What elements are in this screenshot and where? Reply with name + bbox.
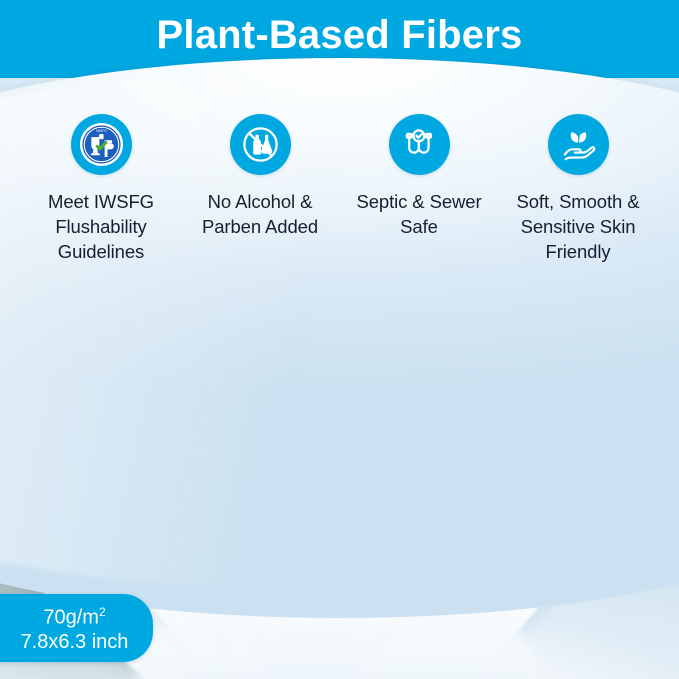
feature-label: Septic & Sewer Safe: [344, 189, 494, 239]
feature-icon-circle: [230, 114, 291, 175]
feature-item-septic-safe: Septic & Sewer Safe: [344, 114, 494, 264]
svg-text:IWSFG: IWSFG: [96, 129, 107, 133]
product-feature-image: Plant-Based Fibers IWSFG: [0, 0, 679, 679]
spec-badge: 70g/m2 7.8x6.3 inch: [0, 594, 153, 662]
spec-weight: 70g/m2: [10, 600, 139, 630]
spec-dimensions: 7.8x6.3 inch: [10, 630, 139, 654]
feature-item-flushability: IWSFG Meet IWSFG Flushability Guidelines: [26, 114, 176, 264]
feature-icon-circle: [389, 114, 450, 175]
feature-icon-circle: [548, 114, 609, 175]
page-title: Plant-Based Fibers: [0, 7, 679, 63]
no-alcohol-paraben-icon: [238, 122, 283, 167]
hand-holding-leaves-icon: [556, 122, 601, 167]
feature-label: No Alcohol & Parben Added: [185, 189, 335, 239]
feature-item-sensitive-skin: Soft, Smooth & Sensitive Skin Friendly: [503, 114, 653, 264]
septic-sewer-pipe-check-icon: [398, 123, 441, 166]
spec-weight-exponent: 2: [99, 605, 106, 619]
spec-weight-value: 70g/m: [43, 607, 99, 629]
feature-row: IWSFG Meet IWSFG Flushability Guidelines: [0, 114, 679, 264]
feature-label: Meet IWSFG Flushability Guidelines: [26, 189, 176, 264]
iwsfg-flushable-toilet-icon: IWSFG: [78, 121, 125, 168]
feature-icon-circle: IWSFG: [71, 114, 132, 175]
feature-item-no-alcohol: No Alcohol & Parben Added: [185, 114, 335, 264]
feature-label: Soft, Smooth & Sensitive Skin Friendly: [503, 189, 653, 264]
